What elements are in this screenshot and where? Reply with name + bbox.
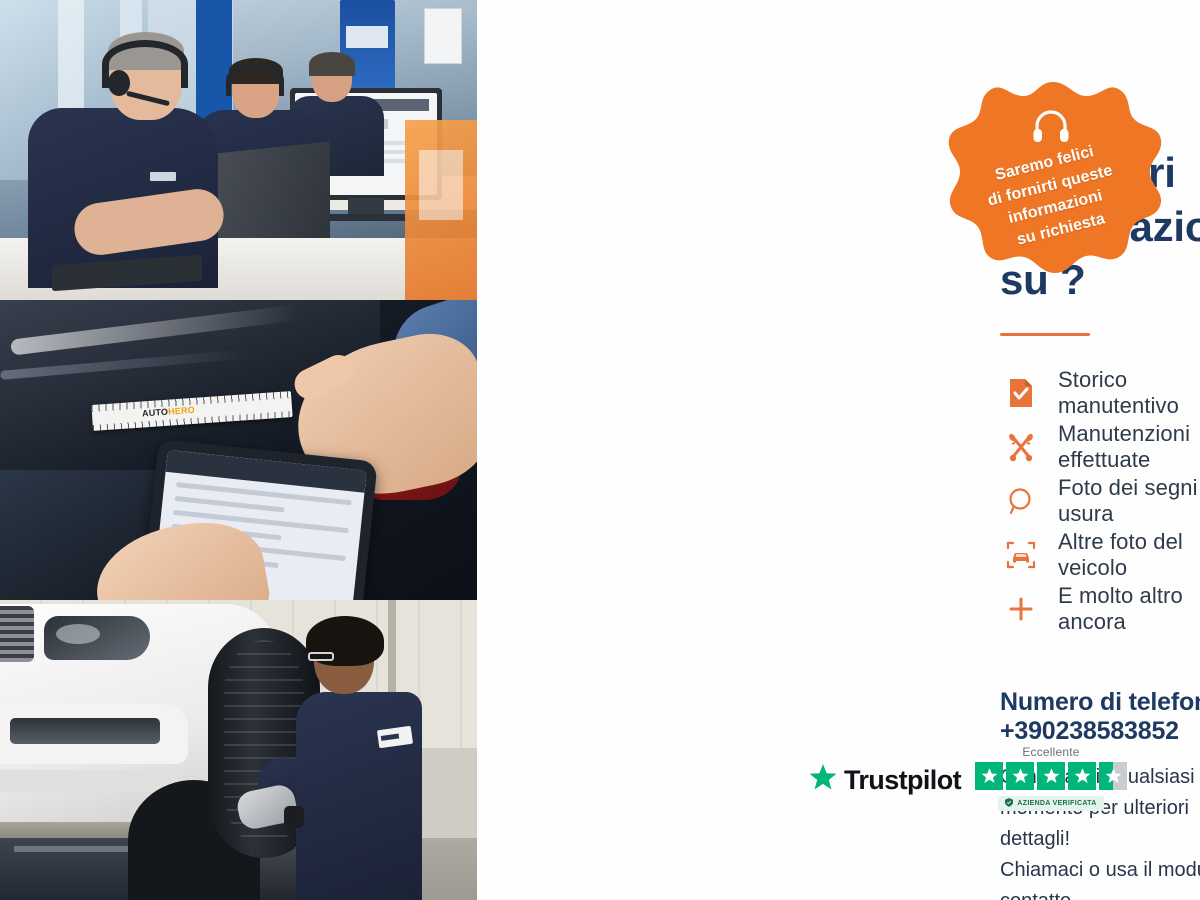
feature-item-manutenzioni: Manutenzioni effettuate: [1000, 420, 1200, 474]
feature-label: Foto dei segni di usura: [1058, 475, 1200, 527]
trustpilot-stars: [975, 762, 1127, 790]
feature-item-altre-foto: Altre foto del veicolo: [1000, 528, 1200, 582]
star-filled: [975, 762, 1003, 790]
car-focus-frame-icon: [1000, 540, 1042, 570]
document-check-icon: [1000, 378, 1042, 408]
magnifier-icon: [1000, 487, 1042, 515]
verified-business-badge: AZIENDA VERIFICATA: [998, 796, 1103, 811]
title-divider: [1000, 333, 1090, 336]
trustpilot-logo: Trustpilot: [808, 763, 961, 797]
feature-list: Storico manutentivo Manutenzi: [1000, 366, 1200, 636]
trustpilot-widget[interactable]: Trustpilot Eccellente: [808, 745, 1127, 811]
star-filled: [1068, 762, 1096, 790]
callout-badge: Saremo felici di fornirti queste informa…: [944, 78, 1162, 308]
feature-item-altro-ancora: E molto altro ancora: [1000, 582, 1200, 636]
star-filled: [1037, 762, 1065, 790]
photo-car-inspection-ruler: AUTOHERO: [0, 300, 477, 600]
promo-banner: AUTOHERO: [0, 0, 1200, 900]
trustpilot-rating: Eccellente: [975, 745, 1127, 811]
feature-label: Storico manutentivo: [1058, 367, 1200, 419]
feature-label: Altre foto del veicolo: [1058, 529, 1200, 581]
tools-cross-icon: [1000, 432, 1042, 462]
feature-label: E molto altro ancora: [1058, 583, 1200, 635]
headset-icon: [1028, 104, 1074, 150]
trustpilot-star-icon: [808, 763, 838, 797]
feature-label: Manutenzioni effettuate: [1058, 421, 1200, 473]
star-filled: [1006, 762, 1034, 790]
photo-column: AUTOHERO: [0, 0, 477, 900]
plus-icon: [1000, 595, 1042, 623]
shield-check-icon: [1005, 798, 1013, 809]
verified-label: AZIENDA VERIFICATA: [1017, 800, 1096, 807]
trustpilot-wordmark: Trustpilot: [844, 765, 961, 796]
photo-mechanic-wheel: [0, 600, 477, 900]
photo-call-centre: [0, 0, 477, 300]
contact-line2: Chiamaci o usa il modulo di contatto.: [1000, 855, 1200, 900]
feature-item-storico: Storico manutentivo: [1000, 366, 1200, 420]
feature-item-foto-usura: Foto dei segni di usura: [1000, 474, 1200, 528]
trustpilot-rating-label: Eccellente: [1022, 745, 1079, 759]
phone-number[interactable]: Numero di telefono: +390238583852: [1000, 688, 1200, 746]
star-half: [1099, 762, 1127, 790]
